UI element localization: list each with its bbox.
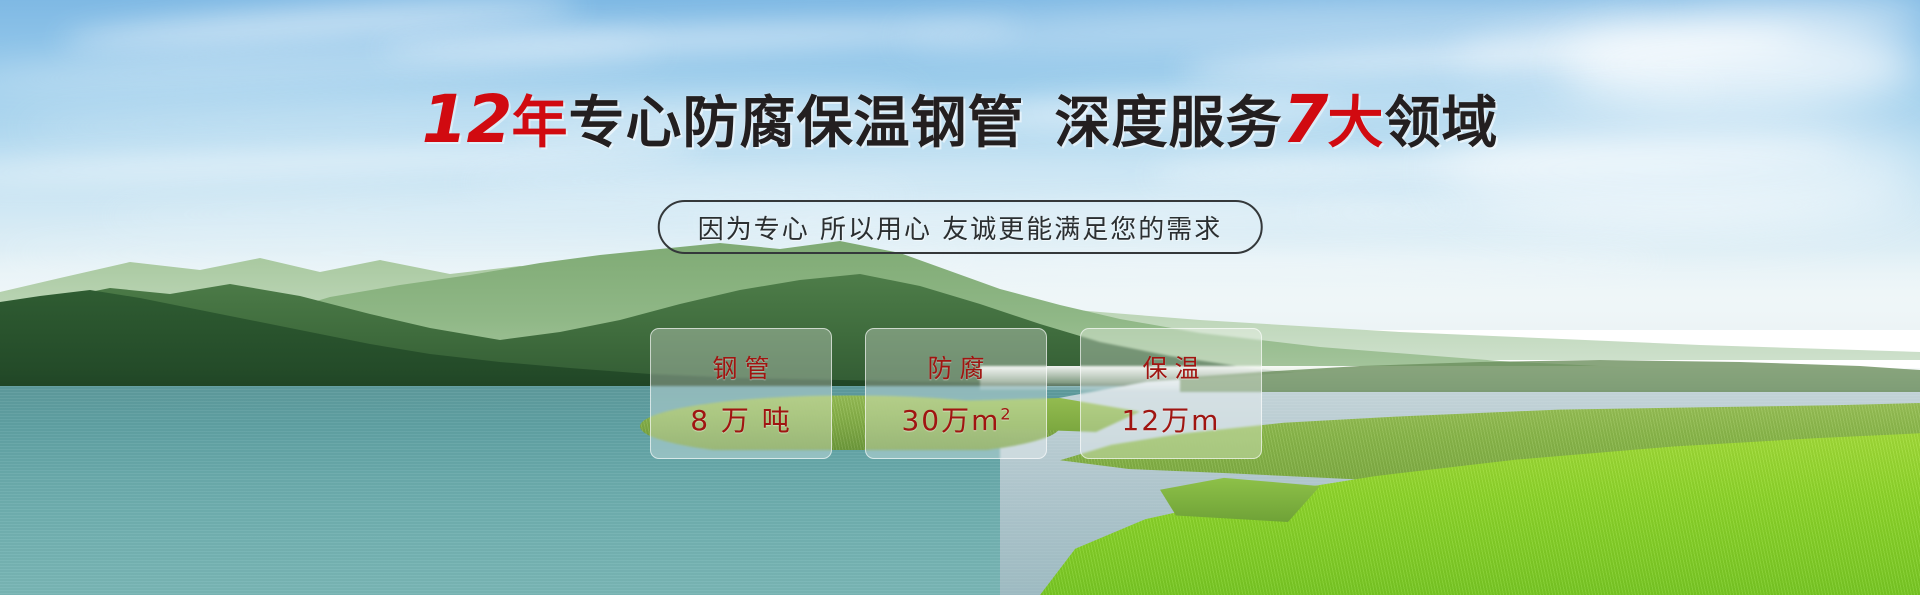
stat-card-value: 12万m	[1122, 399, 1221, 439]
stat-card-title: 防腐	[920, 349, 991, 385]
fields-unit: 大	[1327, 91, 1384, 156]
stat-card-value: 30万m2	[901, 399, 1010, 439]
stat-value-superscript: 2	[1000, 404, 1010, 423]
fields-number: 7	[1282, 81, 1327, 158]
stat-card-group: 钢管 8 万 吨 防腐 30万m2 保温 12万m	[650, 328, 1262, 459]
stat-card-value: 8 万 吨	[690, 399, 792, 439]
hero-banner: 12年专心防腐保温钢管深度服务7大领域 因为专心 所以用心 友诚更能满足您的需求…	[0, 0, 1920, 595]
stat-card-insulation[interactable]: 保温 12万m	[1080, 328, 1262, 459]
page-title: 12年专心防腐保温钢管深度服务7大领域	[0, 87, 1920, 153]
stat-value-main: 8 万 吨	[690, 404, 792, 437]
years-unit: 年	[511, 91, 568, 156]
headline-main-text: 专心防腐保温钢管	[568, 91, 1024, 156]
years-number: 12	[422, 81, 512, 158]
headline-service-text: 深度服务	[1054, 91, 1282, 156]
stat-card-title: 钢管	[705, 349, 776, 385]
stat-value-main: 30万m	[901, 404, 1000, 437]
distant-marsh-strip	[1180, 352, 1920, 392]
stat-card-title: 保温	[1135, 349, 1206, 385]
stat-card-anticorrosion[interactable]: 防腐 30万m2	[865, 328, 1047, 459]
stat-card-steel-pipe[interactable]: 钢管 8 万 吨	[650, 328, 832, 459]
subtitle-text: 因为专心 所以用心 友诚更能满足您的需求	[698, 209, 1223, 246]
fields-tail-text: 领域	[1384, 91, 1498, 156]
stat-value-main: 12万m	[1122, 404, 1221, 437]
subtitle-pill: 因为专心 所以用心 友诚更能满足您的需求	[658, 200, 1263, 254]
